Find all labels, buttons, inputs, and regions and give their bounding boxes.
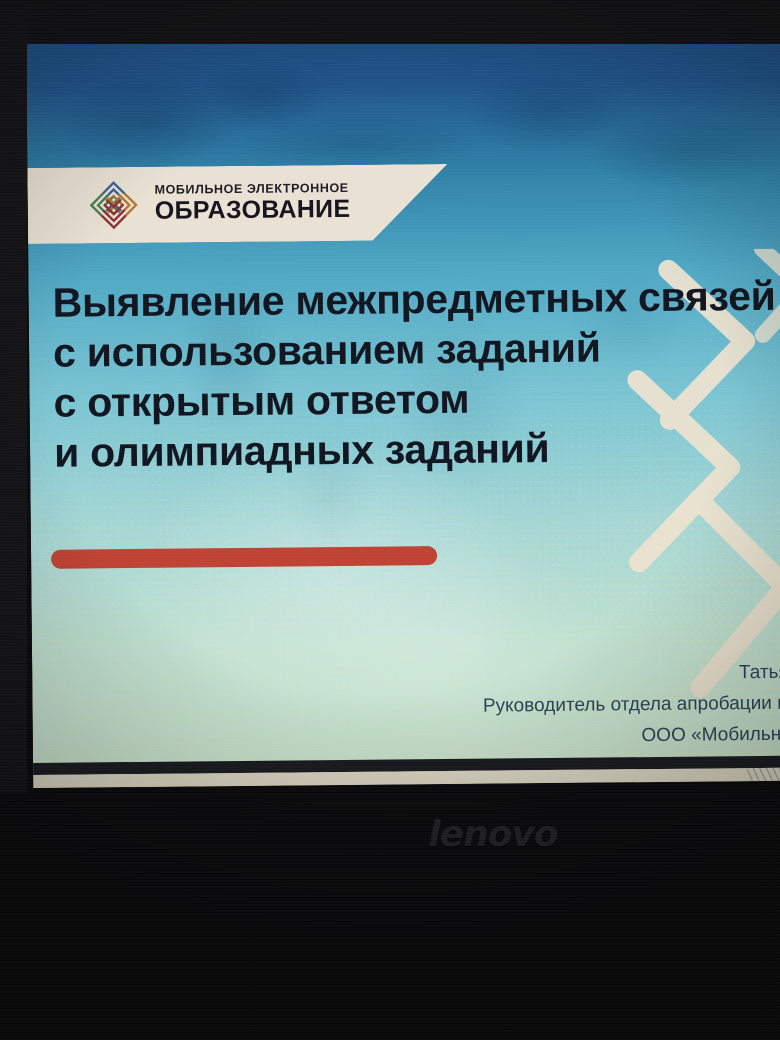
slide-title-line-1: Выявление межпредметных связей <box>52 269 780 328</box>
presenter-name: Татьяна Валерьевна <box>482 655 780 690</box>
next-slide-hatch-decoration <box>747 768 780 788</box>
logo-text-line2: ОБРАЗОВАНИЕ <box>155 197 351 224</box>
slide-title-line-4: и олимпиадных заданий <box>54 419 780 478</box>
presentation-slide: МОБИЛЬНОЕ ЭЛЕКТРОННОЕ ОБРАЗОВАНИЕ Выявле… <box>26 21 780 788</box>
laptop-bezel-left <box>0 0 27 800</box>
laptop-screen-photo: МОБИЛЬНОЕ ЭЛЕКТРОННОЕ ОБРАЗОВАНИЕ Выявле… <box>0 0 780 1040</box>
slide-title-line-3: с открытым ответом <box>53 369 780 428</box>
presenter-organization: ООО «Мобильное Электронное <box>483 717 780 752</box>
laptop-bezel-top <box>0 0 780 44</box>
accent-rule <box>51 546 437 569</box>
presenter-info: Татьяна Валерьевна Руководитель отдела а… <box>482 655 780 752</box>
laptop-bezel-bottom <box>0 793 780 1040</box>
logo-mark-icon <box>85 177 142 234</box>
slide-title: Выявление межпредметных связей с использ… <box>52 269 780 478</box>
slide-title-line-2: с использованием заданий <box>53 319 780 378</box>
lenovo-logo: lenovo <box>398 812 588 856</box>
presenter-role: Руководитель отдела апробации и методиче… <box>483 686 780 721</box>
